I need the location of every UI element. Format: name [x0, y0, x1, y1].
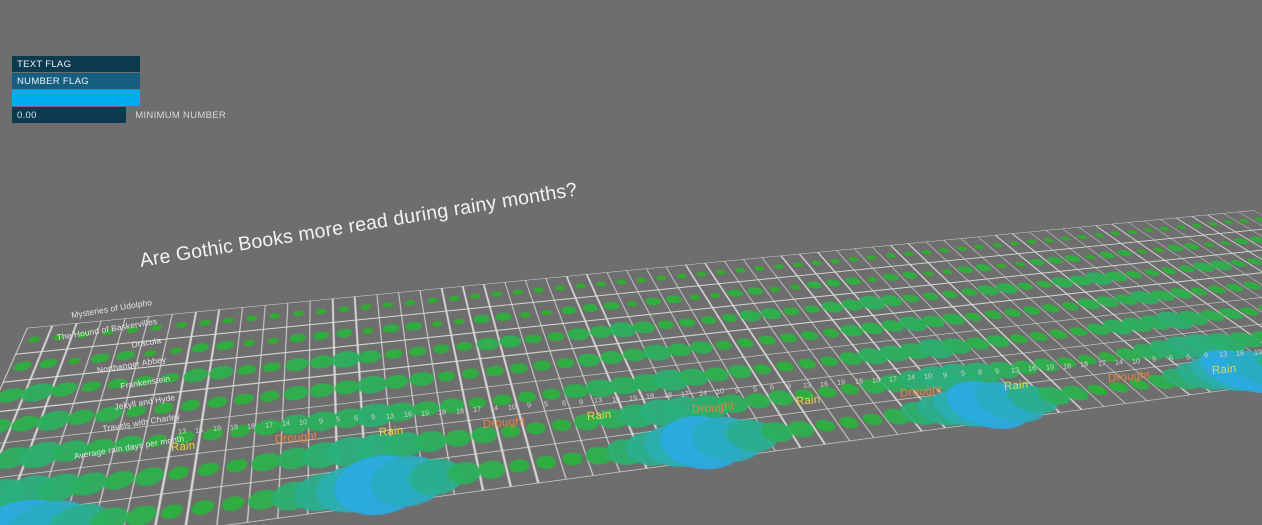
grid-line-vertical: [0, 323, 77, 525]
control-panel[interactable]: TEXT FLAG NUMBER FLAG 0.00 MINIMUM NUMBE…: [12, 56, 226, 124]
grid-line-vertical: [184, 309, 220, 525]
minimum-number-row[interactable]: 0.00 MINIMUM NUMBER: [12, 107, 226, 123]
grid-line-vertical: [153, 312, 197, 525]
grid-line-vertical: [215, 307, 243, 525]
grid-line-vertical: [483, 284, 539, 483]
grid-line-vertical: [88, 316, 149, 525]
plot-area[interactable]: [0, 210, 1262, 525]
text-flag-label: TEXT FLAG: [17, 59, 71, 70]
grid-line-horizontal: [0, 352, 1262, 525]
grid-line-vertical: [246, 305, 265, 522]
minimum-number-value: 0.00: [17, 110, 37, 121]
text-flag-row[interactable]: TEXT FLAG: [12, 56, 226, 72]
minimum-number-input[interactable]: 0.00: [12, 107, 126, 123]
grid-line-vertical: [307, 301, 311, 514]
text-flag-bar[interactable]: TEXT FLAG: [12, 56, 140, 72]
grid-line-vertical: [121, 314, 174, 525]
grid-line-vertical: [0, 328, 28, 525]
color-swatch-row[interactable]: [12, 90, 226, 106]
color-swatch[interactable]: [12, 90, 140, 106]
grid-line-horizontal: [0, 328, 1262, 524]
grid-line-vertical: [0, 325, 53, 525]
number-flag-row[interactable]: NUMBER FLAG: [12, 73, 226, 89]
grid-line-vertical: [277, 303, 289, 518]
minimum-number-label: MINIMUM NUMBER: [135, 110, 226, 121]
number-flag-bar[interactable]: NUMBER FLAG: [12, 73, 140, 89]
grid-line-vertical: [55, 318, 125, 525]
grid-line-vertical: [22, 321, 101, 525]
number-flag-label: NUMBER FLAG: [17, 76, 89, 87]
grid-line-vertical: [685, 265, 801, 448]
